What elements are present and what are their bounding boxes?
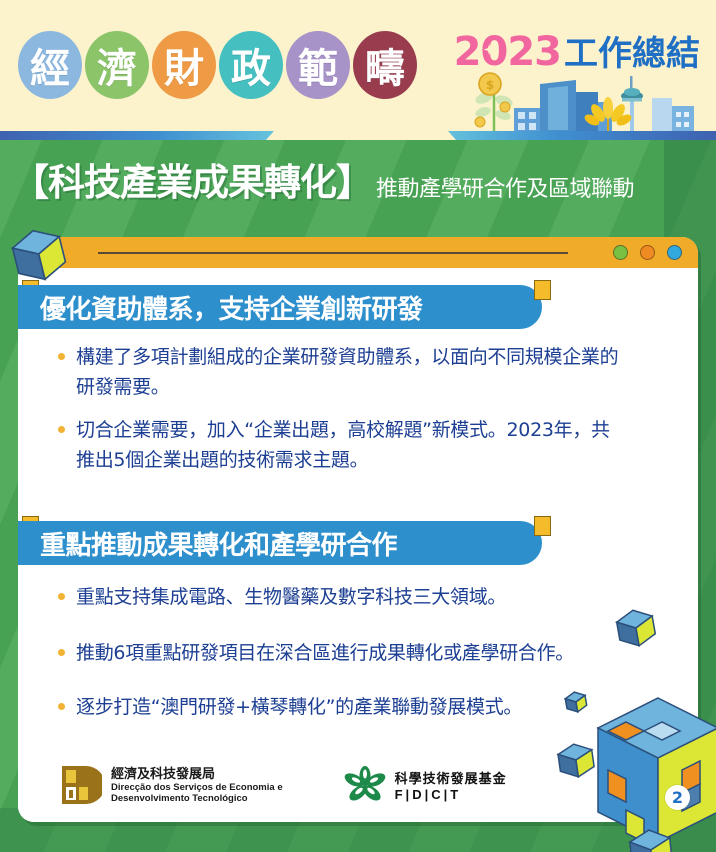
section-1-marker-right — [534, 280, 551, 300]
dsedt-logo-icon — [60, 764, 102, 806]
infographic-page: 經 濟 財 政 範 疇 2023 工作總結 $ — [0, 0, 716, 852]
money-plant-icon: $ — [474, 73, 514, 134]
bullet-text: 逐步打造“澳門研發+橫琴轉化”的產業聯動發展模式。 — [76, 692, 522, 722]
brand-chip-4: 範 — [286, 31, 350, 99]
cube-cluster-decoration — [556, 600, 716, 852]
city-skyline-illustration: $ — [456, 68, 706, 134]
section-2-marker-right — [534, 516, 551, 536]
bullet-text: 切合企業需要，加入“企業出題，高校解題”新模式。2023年，共推出5個企業出題的… — [76, 415, 621, 475]
bullet-dot-icon — [58, 649, 65, 656]
bullet-dot-icon — [58, 353, 65, 360]
dsedt-name-zh: 經濟及科技發展局 — [111, 767, 283, 782]
fdct-logo: 科學技術發展基金 F|D|C|T — [343, 765, 507, 805]
list-item: 構建了多項計劃組成的企業研發資助體系，以面向不同規模企業的研發需要。 — [58, 342, 658, 402]
titlebar-dots — [613, 245, 682, 260]
bullet-text: 推動6項重點研發項目在深合區進行成果轉化或產學研合作。 — [76, 638, 574, 668]
fdct-name-en: F|D|C|T — [395, 787, 507, 802]
brand-title: 經 濟 財 政 範 疇 — [18, 31, 417, 99]
page-header: 經 濟 財 政 範 疇 2023 工作總結 $ — [0, 0, 716, 134]
list-item: 切合企業需要，加入“企業出題，高校解題”新模式。2023年，共推出5個企業出題的… — [58, 415, 658, 475]
page-number-badge: 2 — [665, 785, 690, 810]
header-divider-notch — [266, 131, 456, 140]
titlebar-line — [98, 252, 568, 254]
macau-tower-icon — [621, 76, 643, 134]
page-title-subtitle: 推動產學研合作及區域聯動 — [376, 171, 634, 206]
page-title-main: 【科技產業成果轉化】 — [12, 152, 372, 206]
brand-chip-0: 經 — [18, 31, 82, 99]
section-1-bullets: 構建了多項計劃組成的企業研發資助體系，以面向不同規模企業的研發需要。 切合企業需… — [58, 342, 658, 488]
brand-chip-2: 財 — [152, 31, 216, 99]
brand-chip-5: 疇 — [353, 31, 417, 99]
dot-green-icon[interactable] — [613, 245, 628, 260]
bullet-text: 構建了多項計劃組成的企業研發資助體系，以面向不同規模企業的研發需要。 — [76, 342, 621, 402]
brand-chip-1: 濟 — [85, 31, 149, 99]
bullet-dot-icon — [58, 426, 65, 433]
dot-orange-icon[interactable] — [640, 245, 655, 260]
section-heading-2: 重點推動成果轉化和產學研合作 — [18, 521, 542, 565]
fdct-name-zh: 科學技術發展基金 — [395, 768, 507, 787]
bullet-dot-icon — [58, 703, 65, 710]
section-heading-1: 優化資助體系，支持企業創新研發 — [18, 285, 542, 329]
fdct-logo-icon — [343, 765, 387, 805]
brand-chip-3: 政 — [219, 31, 283, 99]
cube-icon-topleft — [6, 222, 72, 288]
dsedt-logo: 經濟及科技發展局 Direcção dos Serviços de Econom… — [60, 764, 283, 806]
bullet-text: 重點支持集成電路、生物醫藥及數字科技三大領域。 — [76, 582, 506, 612]
bullet-dot-icon — [58, 593, 65, 600]
svg-text:$: $ — [486, 78, 494, 92]
fdct-logo-text: 科學技術發展基金 F|D|C|T — [395, 768, 507, 802]
page-title: 【科技產業成果轉化】 推動產學研合作及區域聯動 — [12, 152, 634, 206]
dot-blue-icon[interactable] — [667, 245, 682, 260]
dsedt-name-pt-line2: Desenvolvimento Tecnológico — [111, 793, 283, 804]
dsedt-name-pt-line1: Direcção dos Serviços de Economia e — [111, 782, 283, 793]
dsedt-logo-text: 經濟及科技發展局 Direcção dos Serviços de Econom… — [111, 767, 283, 804]
window-titlebar — [18, 237, 698, 268]
